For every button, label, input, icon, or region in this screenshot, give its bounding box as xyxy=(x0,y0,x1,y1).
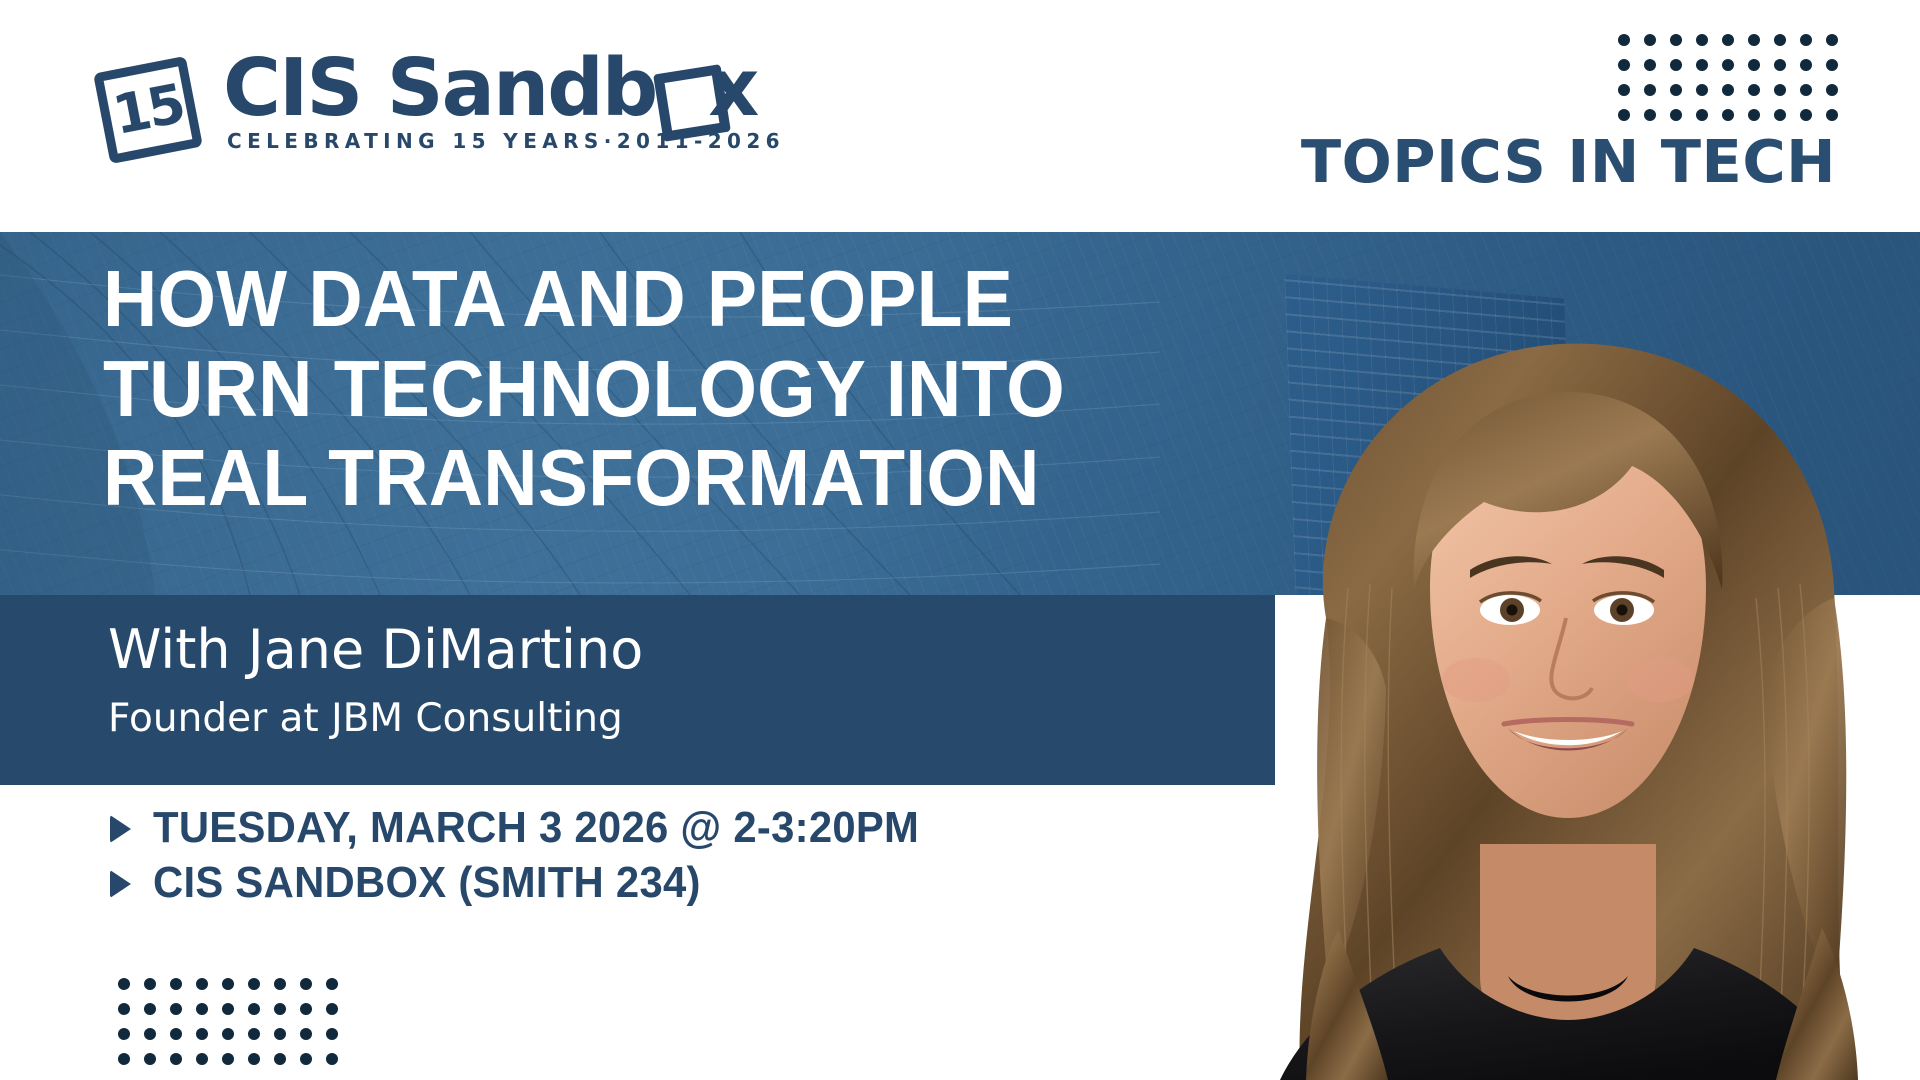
dot xyxy=(1696,109,1708,121)
dot xyxy=(1800,109,1812,121)
dot xyxy=(248,978,260,990)
detail-row-datetime: TUESDAY, MARCH 3 2026 @ 2-3:20PM xyxy=(108,805,959,851)
dot xyxy=(118,1028,130,1040)
cis-sandbox-logo: 15 CIS Sandb x CELEBRATING 15 YEARS·2011… xyxy=(95,50,785,166)
dot xyxy=(1722,59,1734,71)
dot xyxy=(274,978,286,990)
dot xyxy=(1800,84,1812,96)
dot xyxy=(1826,34,1838,46)
dot xyxy=(1774,59,1786,71)
dot xyxy=(1826,84,1838,96)
dot xyxy=(1644,109,1656,121)
dot xyxy=(118,978,130,990)
dot xyxy=(118,1053,130,1065)
dot xyxy=(1670,109,1682,121)
dot xyxy=(222,1053,234,1065)
dot xyxy=(1618,109,1630,121)
dot xyxy=(300,1053,312,1065)
dot xyxy=(248,1053,260,1065)
dot xyxy=(1618,59,1630,71)
wordmark-square-o-icon xyxy=(658,69,706,117)
dot xyxy=(1748,34,1760,46)
dot xyxy=(144,1028,156,1040)
dot xyxy=(1774,84,1786,96)
dot xyxy=(300,1028,312,1040)
dot xyxy=(1774,109,1786,121)
dot xyxy=(1644,34,1656,46)
dot xyxy=(196,978,208,990)
dot xyxy=(170,1053,182,1065)
dot xyxy=(1800,59,1812,71)
dot xyxy=(1722,84,1734,96)
speaker-portrait-photo xyxy=(1208,288,1920,1080)
dot xyxy=(274,1003,286,1015)
speaker-name: With Jane DiMartino xyxy=(108,623,643,677)
dot xyxy=(326,1028,338,1040)
dot xyxy=(1670,59,1682,71)
event-headline: HOW DATA AND PEOPLE TURN TECHNOLOGY INTO… xyxy=(103,254,1212,523)
dot xyxy=(196,1053,208,1065)
logo-text-column: CIS Sandb x CELEBRATING 15 YEARS·2011-20… xyxy=(223,50,785,153)
pupil-right xyxy=(1617,605,1628,616)
dot xyxy=(1618,84,1630,96)
pupil-left xyxy=(1507,605,1518,616)
dot-grid-bottom-left xyxy=(118,978,352,1078)
dot xyxy=(1618,34,1630,46)
dot xyxy=(274,1028,286,1040)
dot xyxy=(326,1003,338,1015)
dot xyxy=(1644,59,1656,71)
dot xyxy=(300,1003,312,1015)
dot xyxy=(1748,59,1760,71)
dot xyxy=(1748,84,1760,96)
dot xyxy=(170,978,182,990)
dot xyxy=(1774,34,1786,46)
dot xyxy=(1826,109,1838,121)
series-title: TOPICS IN TECH xyxy=(1301,132,1836,191)
dot xyxy=(144,978,156,990)
dot xyxy=(144,1053,156,1065)
dot xyxy=(1800,34,1812,46)
wordmark-prefix: CIS Sandb xyxy=(223,50,656,127)
headline-line-2: TURN TECHNOLOGY INTO xyxy=(103,344,1212,434)
dot xyxy=(170,1003,182,1015)
dot xyxy=(1748,109,1760,121)
dot-grid-top-right xyxy=(1618,34,1852,134)
dot xyxy=(248,1003,260,1015)
dot xyxy=(326,978,338,990)
event-poster: 15 CIS Sandb x CELEBRATING 15 YEARS·2011… xyxy=(0,0,1920,1080)
dot xyxy=(300,978,312,990)
dot xyxy=(144,1003,156,1015)
dot xyxy=(1670,84,1682,96)
dot xyxy=(1696,59,1708,71)
badge-number: 15 xyxy=(86,51,209,169)
dot xyxy=(1644,84,1656,96)
event-details: TUESDAY, MARCH 3 2026 @ 2-3:20PM CIS SAN… xyxy=(108,805,959,915)
dot xyxy=(222,1003,234,1015)
logo-wordmark: CIS Sandb x xyxy=(223,50,785,127)
speaker-role: Founder at JBM Consulting xyxy=(108,699,623,738)
dot xyxy=(1670,34,1682,46)
triangle-bullet-icon xyxy=(108,809,134,847)
dot xyxy=(1826,59,1838,71)
dot xyxy=(1696,34,1708,46)
dot xyxy=(118,1003,130,1015)
dot xyxy=(196,1003,208,1015)
headline-line-1: HOW DATA AND PEOPLE xyxy=(103,254,1212,344)
dot xyxy=(1696,84,1708,96)
event-location: CIS SANDBOX (SMITH 234) xyxy=(153,860,701,906)
dot xyxy=(222,978,234,990)
event-datetime: TUESDAY, MARCH 3 2026 @ 2-3:20PM xyxy=(153,805,919,851)
dot xyxy=(274,1053,286,1065)
headline-line-3: REAL TRANSFORMATION xyxy=(103,433,1212,523)
dot xyxy=(1722,109,1734,121)
dot xyxy=(1722,34,1734,46)
speaker-band: With Jane DiMartino Founder at JBM Consu… xyxy=(0,595,1275,785)
triangle-bullet-icon xyxy=(108,864,134,902)
anniversary-badge-icon: 15 xyxy=(95,60,207,166)
detail-row-location: CIS SANDBOX (SMITH 234) xyxy=(108,860,959,906)
cheek-left xyxy=(1442,658,1510,702)
dot xyxy=(196,1028,208,1040)
dot xyxy=(222,1028,234,1040)
cheek-right xyxy=(1626,658,1694,702)
speaker-portrait-illustration xyxy=(1208,288,1920,1080)
dot xyxy=(326,1053,338,1065)
dot xyxy=(170,1028,182,1040)
dot xyxy=(248,1028,260,1040)
